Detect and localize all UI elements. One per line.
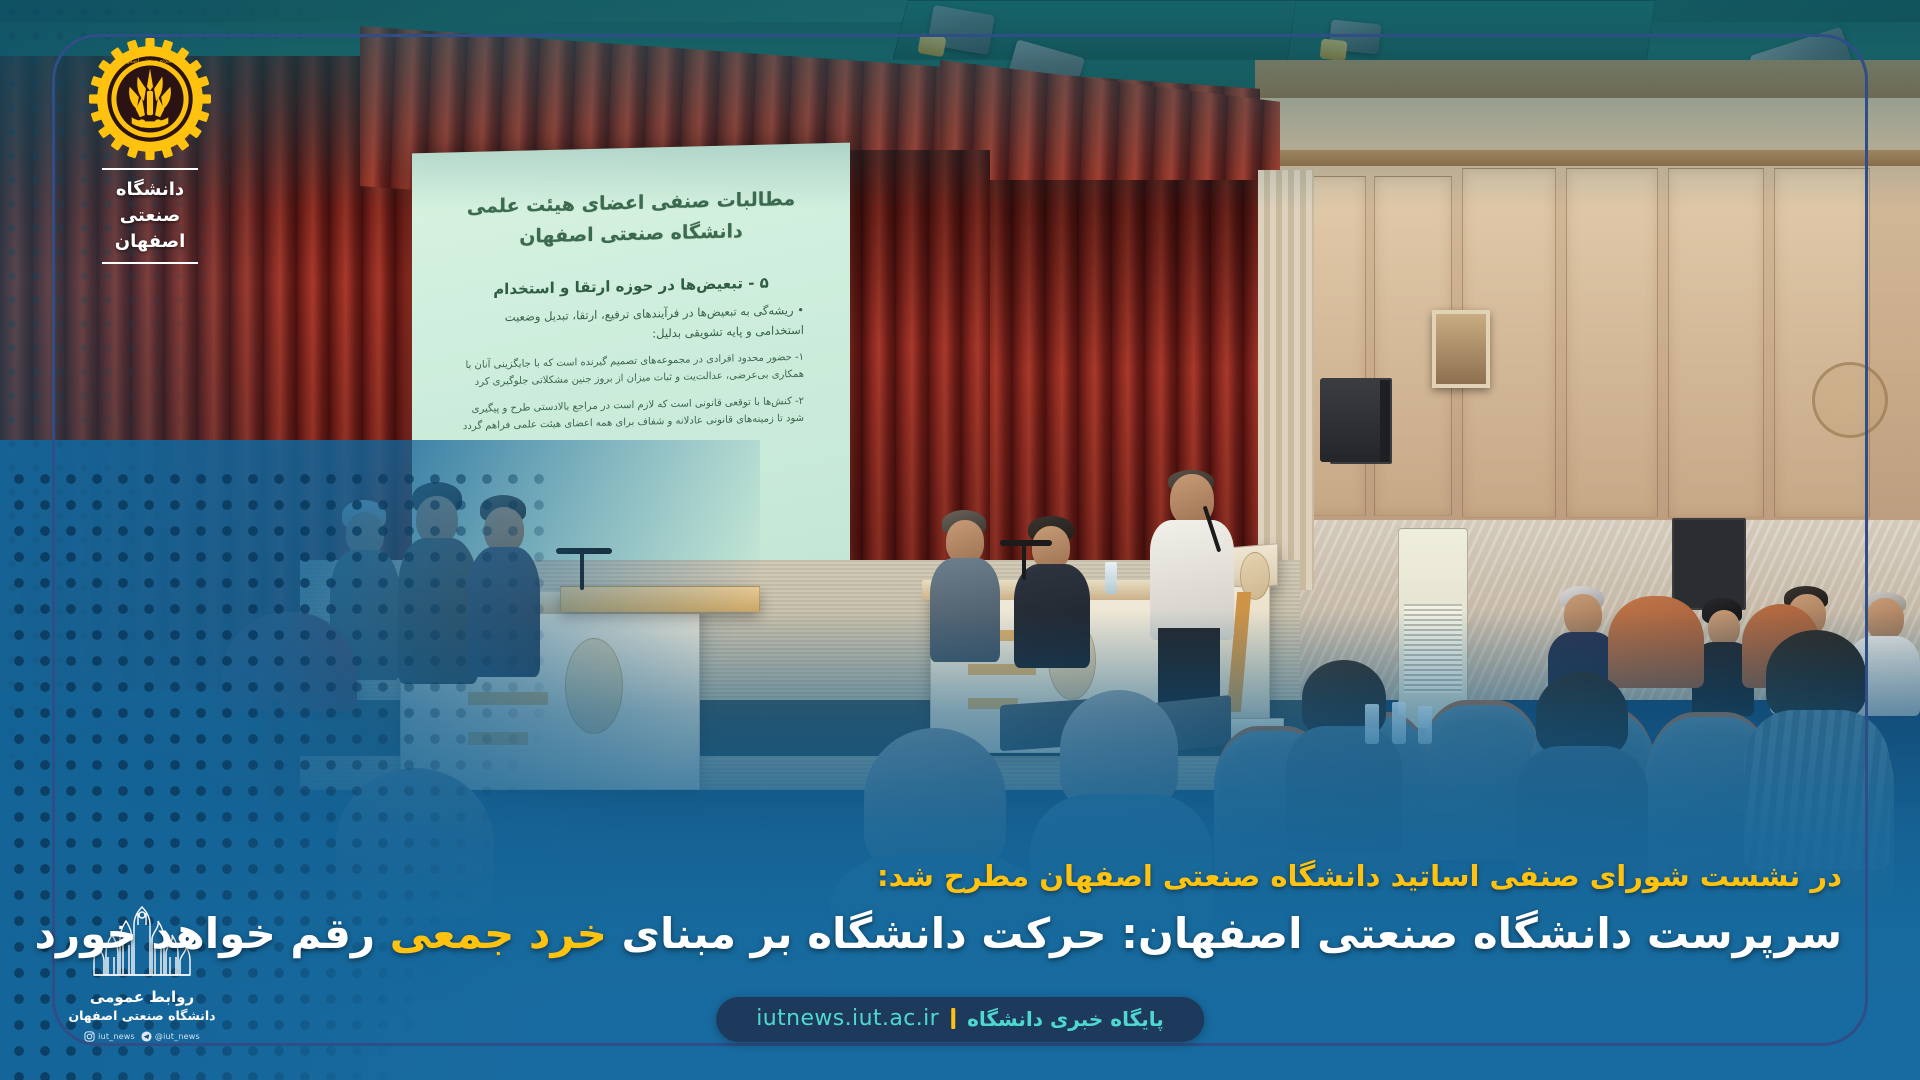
wall-emblem-icon xyxy=(1812,362,1888,438)
panelist-person xyxy=(468,495,540,675)
torso-shirt xyxy=(1150,520,1234,640)
water-bottle xyxy=(1105,562,1117,594)
head xyxy=(1564,594,1602,636)
instagram-handle: iut_news xyxy=(98,1032,135,1041)
stage-light-icon xyxy=(1329,19,1382,54)
slide-bullet-1: • ریشه‌گی به تبعیض‌ها در فرآیندهای ترفیع… xyxy=(458,299,804,348)
air-conditioner xyxy=(1398,528,1468,728)
torso-striped-shirt xyxy=(1744,710,1890,870)
panelist-person xyxy=(930,510,1000,660)
panel-desk-left-ledge xyxy=(560,586,760,612)
desk-emblem xyxy=(565,638,623,734)
headline-block: در نشست شورای صنفی اساتید دانشگاه صنعتی … xyxy=(250,857,1842,962)
headline-highlight: خرد جمعی xyxy=(390,909,607,958)
headline-part-1: سرپرست دانشگاه صنعتی اصفهان: حرکت دانشگا… xyxy=(607,909,1842,958)
iut-gear-emblem-icon: دانشگاه صنعتی اصفهان xyxy=(89,38,211,160)
water-bottle xyxy=(1392,702,1406,744)
pa-speaker xyxy=(1320,378,1380,462)
news-banner: مطالبات صنفی اعضای هیئت علمی دانشگاه صنع… xyxy=(0,0,1920,1080)
slide-bullet-3: ۲- کنش‌ها با توقعی قانونی است که لازم اس… xyxy=(458,393,804,436)
hair xyxy=(1060,690,1178,808)
hair xyxy=(1536,672,1628,756)
telegram-handle: @iut_news xyxy=(155,1032,200,1041)
instagram-icon xyxy=(84,1031,95,1042)
headline-part-2: رقم خواهد خورد xyxy=(34,909,389,958)
site-url-bar[interactable]: iutnews.iut.ac.ir پایگاه خبری دانشگاه xyxy=(716,997,1204,1042)
telegram-link[interactable]: @iut_news xyxy=(141,1031,200,1042)
torso xyxy=(398,538,478,684)
wood-cornice xyxy=(1255,60,1920,98)
logo-line-1: دانشگاه xyxy=(102,177,198,203)
university-logo-caption: دانشگاه صنعتی اصفهان xyxy=(102,168,198,264)
pr-subtitle: دانشگاه صنعتی اصفهان xyxy=(58,1008,226,1023)
site-label: پایگاه خبری دانشگاه xyxy=(967,1007,1164,1031)
torso xyxy=(930,558,1000,662)
torso xyxy=(1014,564,1090,668)
telegram-icon xyxy=(141,1031,152,1042)
water-bottle xyxy=(1418,706,1432,744)
site-url[interactable]: iutnews.iut.ac.ir xyxy=(756,1006,939,1031)
hair xyxy=(864,728,1006,868)
wall-display xyxy=(1672,518,1746,610)
audience-person xyxy=(1296,660,1392,850)
url-separator xyxy=(951,1008,955,1029)
wood-panel xyxy=(1566,168,1658,518)
panelist-person xyxy=(1014,516,1090,666)
chair-leg xyxy=(268,700,280,808)
slide-heading: ۵ - تبعیض‌ها در حوزه ارتقا و استخدام xyxy=(458,272,804,298)
logo-line-2: صنعتی xyxy=(102,203,198,229)
framed-portrait xyxy=(1432,310,1490,388)
wood-cornice xyxy=(1255,150,1920,166)
pr-social-links: iut_news @iut_news xyxy=(58,1031,226,1042)
microphone-head xyxy=(556,548,612,554)
wood-panel xyxy=(1774,168,1870,518)
wood-panel xyxy=(1668,168,1764,518)
university-logo: دانشگاه صنعتی اصفهان دانشگاه صنعتی اصفها… xyxy=(70,38,230,264)
hair xyxy=(1766,630,1866,720)
logo-line-3: اصفهان xyxy=(102,229,198,255)
microphone-stand xyxy=(1022,540,1026,580)
panelist-person xyxy=(398,482,478,682)
head xyxy=(416,496,458,544)
torso xyxy=(1286,726,1402,854)
side-drape xyxy=(1258,170,1314,590)
torso xyxy=(468,547,540,677)
pr-title: روابط عمومی xyxy=(58,988,226,1006)
instagram-link[interactable]: iut_news xyxy=(84,1031,135,1042)
desk-stripe xyxy=(468,692,548,705)
audience-person xyxy=(1760,630,1872,860)
audience-person xyxy=(1530,672,1634,872)
speaker-person xyxy=(1150,470,1234,680)
headline-text: سرپرست دانشگاه صنعتی اصفهان: حرکت دانشگا… xyxy=(250,907,1842,962)
desk-stripe xyxy=(468,732,528,745)
kicker-text: در نشست شورای صنفی اساتید دانشگاه صنعتی … xyxy=(250,857,1842,896)
svg-text:دانشگاه صنعتی اصفهان: دانشگاه صنعتی اصفهان xyxy=(120,56,180,64)
microphone-stand xyxy=(580,548,584,590)
head xyxy=(1708,610,1740,646)
microphone-head xyxy=(1000,540,1052,546)
water-bottle xyxy=(1365,704,1379,744)
slide-bullet-2: ۱- حضور محدود افرادی در مجموعه‌های تصمیم… xyxy=(458,349,804,392)
